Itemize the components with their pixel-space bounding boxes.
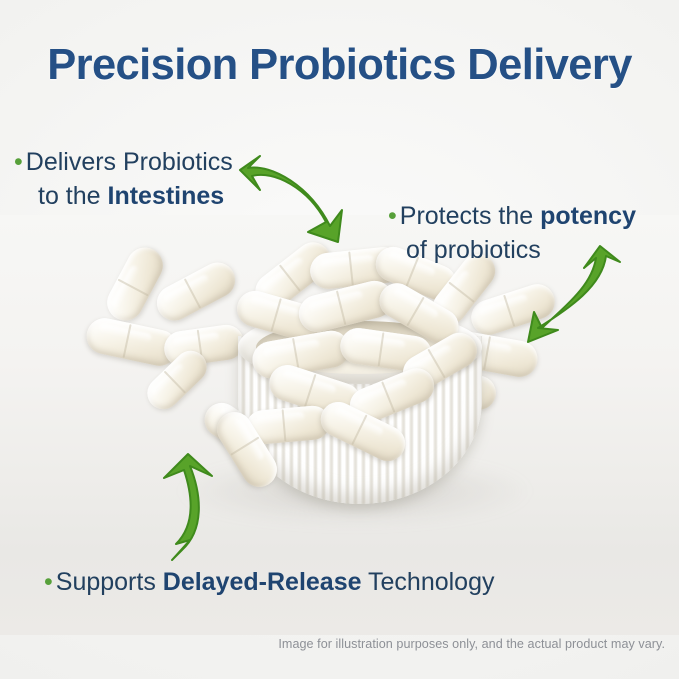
bullet-dot-icon: • <box>14 148 23 176</box>
capsule <box>151 256 242 326</box>
benefit-line: •Protects the potency <box>388 200 678 234</box>
bullet-dot-icon: • <box>44 568 53 596</box>
benefit-text: of probiotics <box>406 236 541 264</box>
curved-arrow-down-right-icon <box>238 156 350 248</box>
benefit-text: Supports <box>56 568 163 596</box>
benefit-text: to the <box>38 182 108 210</box>
product-infographic: Precision Probiotics Delivery •Delivers … <box>0 0 679 679</box>
benefit-text: Protects the <box>400 202 540 230</box>
disclaimer-text: Image for illustration purposes only, an… <box>278 637 665 651</box>
curved-arrow-down-left-icon <box>522 246 626 350</box>
benefit-text: Delivers Probiotics <box>26 148 233 176</box>
benefit-emphasis: potency <box>540 202 636 230</box>
benefit-emphasis: Delayed-Release <box>163 568 362 596</box>
curved-arrow-up-icon <box>152 452 232 562</box>
benefit-text: Technology <box>362 568 495 596</box>
capsule <box>101 241 169 327</box>
benefit-item-delayed-release: •Supports Delayed-Release Technology <box>44 566 495 600</box>
page-title: Precision Probiotics Delivery <box>0 41 679 90</box>
benefit-emphasis: Intestines <box>108 182 225 210</box>
bullet-dot-icon: • <box>388 202 397 230</box>
